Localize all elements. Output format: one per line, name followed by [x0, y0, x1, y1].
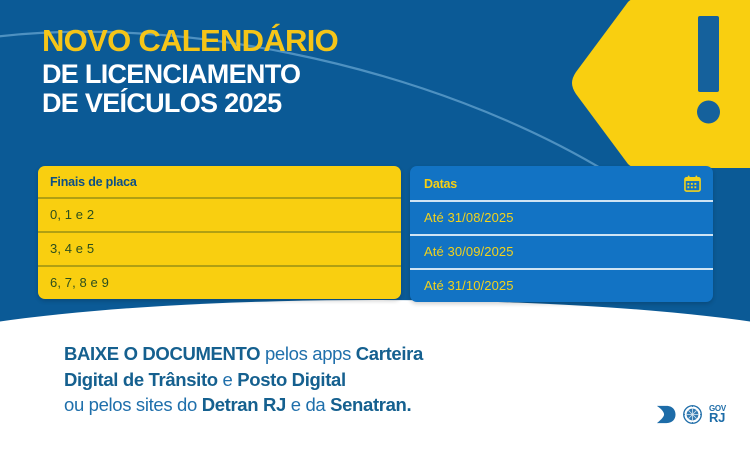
footer-text-sites: ou pelos sites do	[64, 394, 202, 415]
table-row: 0, 1 e 2	[38, 197, 401, 231]
footer-emphasis-senatran: Senatran.	[330, 394, 411, 415]
footer-line-2: Digital de Trânsito e Posto Digital	[64, 367, 604, 393]
table-row: Até 30/09/2025	[410, 234, 713, 268]
gov-rj-wordmark: GOV RJ	[709, 405, 726, 424]
headline-line-3: DE VEÍCULOS 2025	[42, 90, 562, 117]
table-row: 6, 7, 8 e 9	[38, 265, 401, 299]
footer-emphasis-baixe: BAIXE O DOCUMENTO	[64, 343, 260, 364]
table-header-dates-label: Datas	[424, 177, 457, 191]
footer-text-e: e	[218, 369, 238, 390]
table-plate-endings: Finais de placa 0, 1 e 2 3, 4 e 5 6, 7, …	[38, 166, 401, 299]
logo-group: GOV RJ	[655, 404, 726, 425]
poster-canvas: NOVO CALENDÁRIO DE LICENCIAMENTO DE VEÍC…	[0, 0, 750, 450]
page-title: NOVO CALENDÁRIO DE LICENCIAMENTO DE VEÍC…	[42, 26, 562, 117]
rj-label: RJ	[709, 412, 726, 424]
detran-swoosh-icon	[655, 404, 676, 425]
footer-text-e-da: e da	[286, 394, 330, 415]
footer-text-apps: pelos apps	[260, 343, 356, 364]
calendar-icon	[684, 175, 701, 192]
footer-emphasis-digital-transito: Digital de Trânsito	[64, 369, 218, 390]
footer-line-1: BAIXE O DOCUMENTO pelos apps Carteira	[64, 341, 604, 367]
table-dates: Datas Até 31/08/2025 Até 30/09/2025 Até …	[410, 166, 713, 302]
alert-exclamation-badge	[570, 0, 750, 172]
footer-instructions: BAIXE O DOCUMENTO pelos apps Carteira Di…	[64, 341, 604, 418]
footer-emphasis-carteira: Carteira	[356, 343, 423, 364]
footer-line-3: ou pelos sites do Detran RJ e da Senatra…	[64, 392, 604, 418]
footer-emphasis-posto-digital: Posto Digital	[237, 369, 346, 390]
headline-line-2: DE LICENCIAMENTO	[42, 61, 562, 88]
table-header-dates: Datas	[410, 166, 713, 200]
headline-line-1: NOVO CALENDÁRIO	[42, 26, 562, 57]
table-row: Até 31/08/2025	[410, 200, 713, 234]
exclamation-dot-icon	[697, 101, 720, 124]
rj-state-seal-icon	[683, 405, 702, 424]
table-row: 3, 4 e 5	[38, 231, 401, 265]
footer-emphasis-detran: Detran RJ	[202, 394, 286, 415]
table-header-plates: Finais de placa	[38, 166, 401, 197]
exclamation-bar-icon	[698, 16, 719, 92]
table-row: Até 31/10/2025	[410, 268, 713, 302]
